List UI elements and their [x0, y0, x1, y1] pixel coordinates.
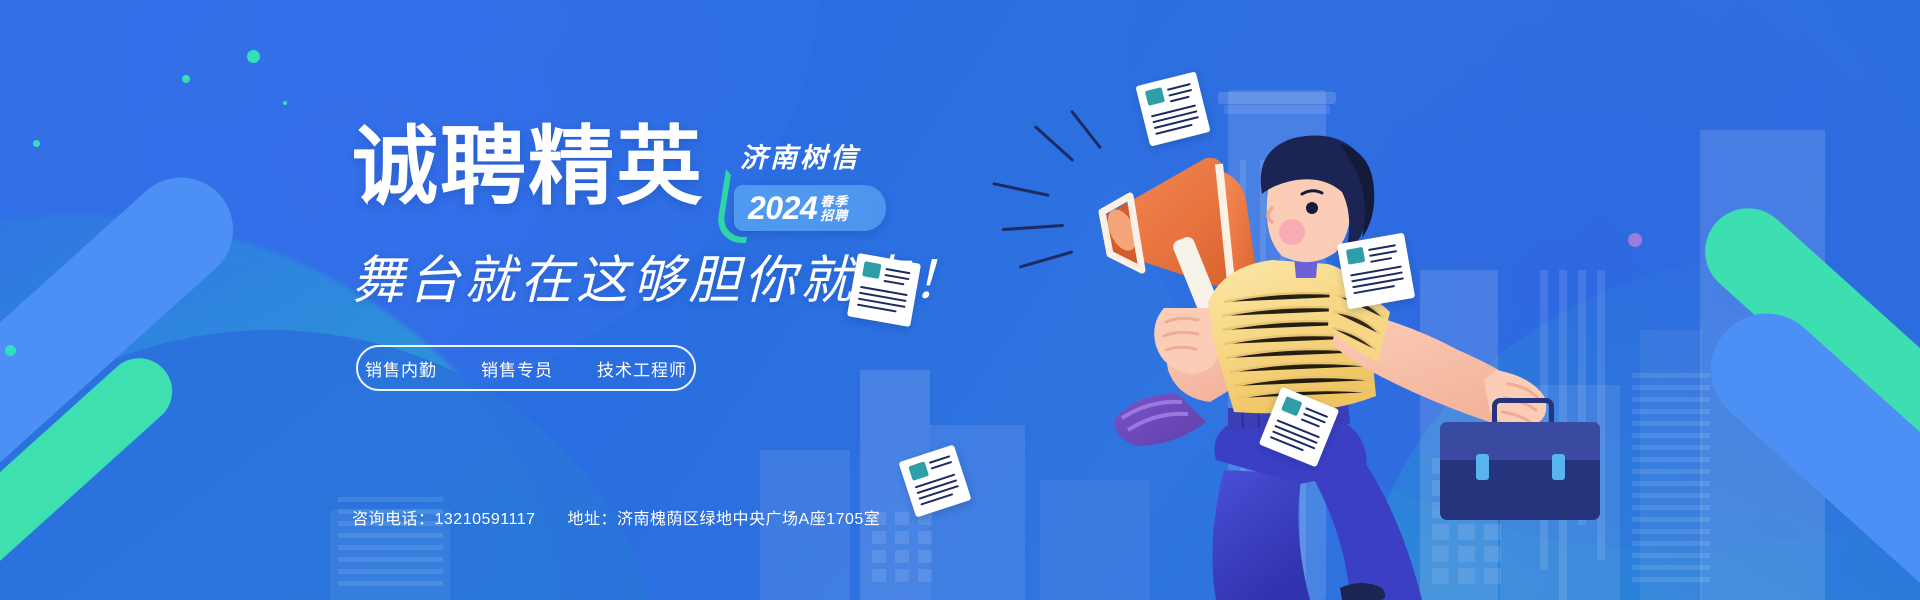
person-cheek	[1279, 219, 1305, 245]
headline-row: 诚聘精英 济南树信 2024 春季 招聘	[352, 124, 920, 231]
briefcase-icon	[1440, 400, 1600, 520]
role-item-2[interactable]: 技术工程师	[575, 356, 709, 381]
year-number: 2024	[748, 190, 817, 227]
resume-document-icon	[1337, 233, 1415, 310]
resume-photo	[862, 261, 881, 279]
contact-info: 咨询电话：13210591117 地址：济南槐荫区绿地中央广场A座1705室	[352, 505, 880, 529]
person-hand-left	[1154, 308, 1220, 374]
brand-block: 济南树信 2024 春季 招聘	[720, 124, 920, 231]
role-item-1[interactable]: 销售专员	[459, 356, 575, 381]
badge-hook-accent	[714, 169, 758, 243]
season-label: 春季 招聘	[820, 195, 848, 223]
season-line-1: 春季	[820, 195, 848, 209]
decorative-dot	[1628, 233, 1642, 247]
briefcase-lock	[1476, 454, 1489, 480]
resume-photo	[1346, 247, 1365, 265]
role-item-0[interactable]: 销售内勤	[343, 356, 459, 381]
contact-address: 地址：济南槐荫区绿地中央广场A座1705室	[568, 505, 881, 529]
briefcase-top	[1440, 422, 1600, 460]
recruitment-banner: 诚聘精英 济南树信 2024 春季 招聘 舞台就在这够胆你就来！ 销售内勤 销售…	[0, 0, 1920, 600]
resume-photo	[1281, 396, 1302, 416]
year-badge: 2024 春季 招聘	[734, 185, 886, 231]
person-eye	[1306, 202, 1318, 214]
role-pill: 销售内勤 销售专员 技术工程师	[356, 345, 696, 391]
person-leg-front	[1310, 464, 1422, 600]
contact-phone: 咨询电话：13210591117	[352, 505, 536, 529]
page-title: 诚聘精英	[352, 124, 704, 210]
building-stripes	[1632, 373, 1710, 582]
briefcase-lock	[1552, 454, 1565, 480]
brand-name: 济南树信	[740, 136, 920, 175]
resume-photo	[908, 461, 929, 481]
person-illustration	[1010, 40, 1570, 600]
person-leg-back	[1212, 470, 1310, 600]
resume-document-icon	[847, 253, 921, 327]
season-line-2: 招聘	[820, 209, 848, 223]
resume-photo	[1145, 87, 1165, 106]
